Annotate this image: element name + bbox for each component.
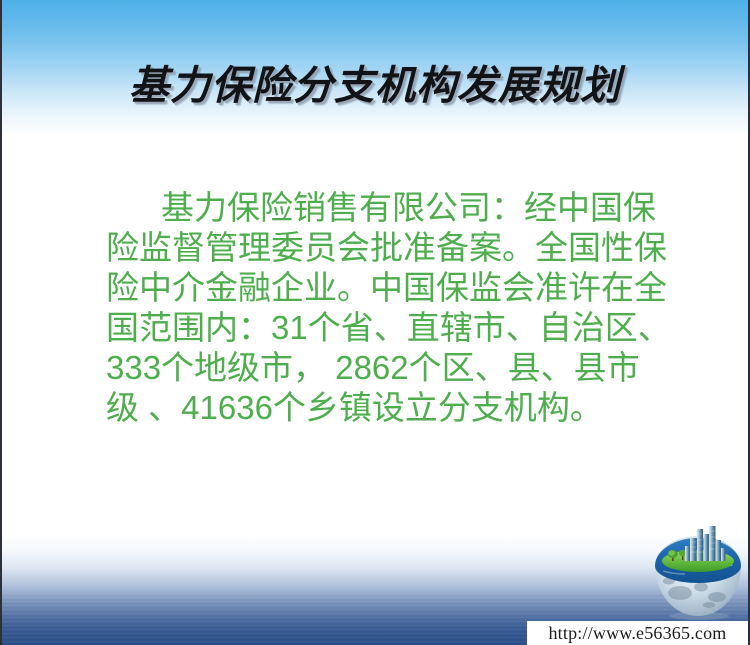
slide-body-text: 基力保险销售有限公司：经中国保险监督管理委员会批准备案。全国性保险中介金融企业。… (106, 188, 672, 428)
eco-globe-svg (647, 521, 749, 621)
globe-shadow (669, 612, 729, 620)
presentation-slide: 基力保险分支机构发展规划 基力保险销售有限公司：经中国保险监督管理委员会批准备案… (0, 0, 750, 645)
eco-globe-icon (647, 521, 749, 621)
watermark-url-text: http://www.e56365.com (548, 623, 726, 644)
globe-city-skyline (685, 526, 726, 561)
watermark-url-bar: http://www.e56365.com (527, 621, 748, 645)
slide-title: 基力保险分支机构发展规划 (2, 62, 748, 110)
